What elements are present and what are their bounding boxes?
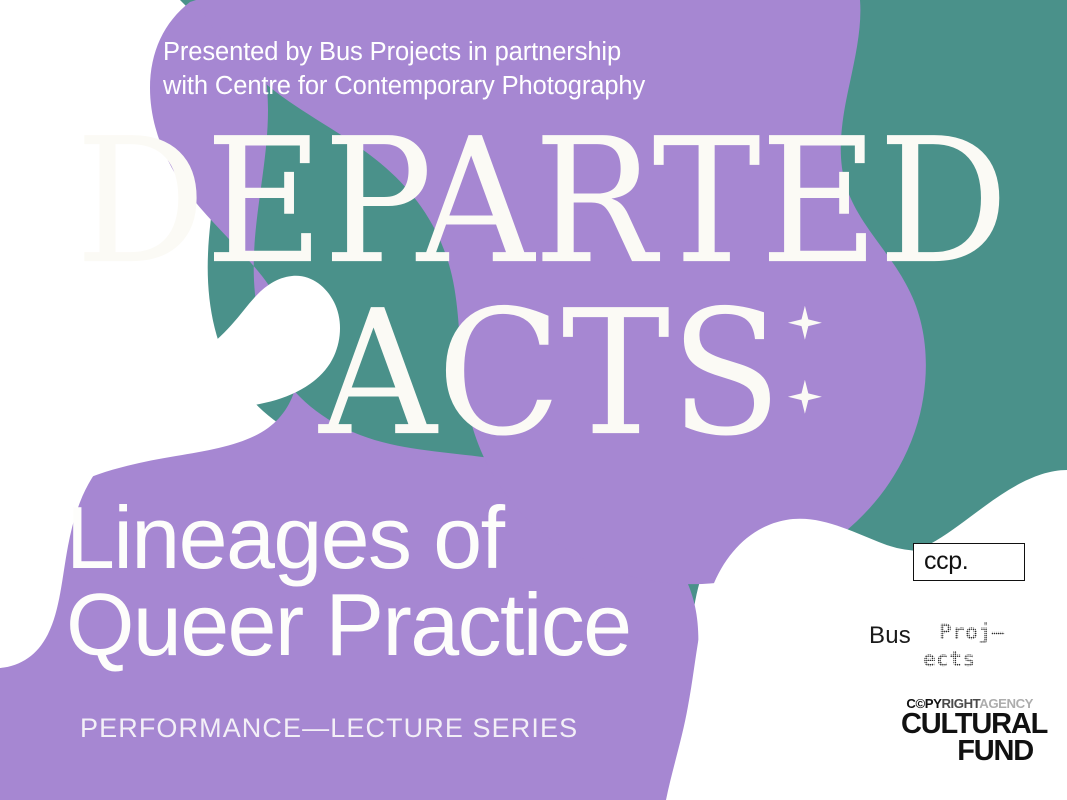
bus-projects-proj-word: Proj—	[939, 622, 1005, 643]
ccp-logo-text: ccp.	[924, 549, 968, 574]
presented-by-credit: Presented by Bus Projects in partnership…	[163, 36, 645, 104]
poster-subtitle: Lineages of Queer Practice	[66, 494, 631, 668]
sparkle-colon-icon	[788, 306, 834, 422]
sparkle-top-icon	[788, 306, 822, 340]
poster-canvas: Presented by Bus Projects in partnership…	[0, 0, 1067, 800]
series-label: PERFORMANCE—LECTURE SERIES	[80, 713, 578, 744]
cultural-fund-line-fund: FUND	[901, 738, 1033, 765]
title-line-acts: ACTS	[319, 290, 782, 459]
cultural-fund-line-cultural: CULTURAL	[901, 711, 1033, 738]
bus-projects-ects-word: ects	[923, 649, 976, 670]
bus-projects-bus-word: Bus	[869, 622, 911, 650]
title-line-acts-wrap: ACTS	[319, 290, 782, 450]
ccp-logo: ccp.	[913, 543, 1025, 581]
content-layer: Presented by Bus Projects in partnership…	[0, 0, 1067, 800]
title-line-departed: DEPARTED	[16, 118, 1067, 287]
sparkle-bottom-icon	[788, 380, 822, 414]
poster-title: DEPARTED ACTS	[0, 118, 1067, 449]
copyright-agency-cultural-fund-logo: C©PYRIGHTAGENCY CULTURAL FUND	[901, 697, 1033, 765]
bus-projects-logo: Bus Proj— ects	[869, 618, 1039, 674]
